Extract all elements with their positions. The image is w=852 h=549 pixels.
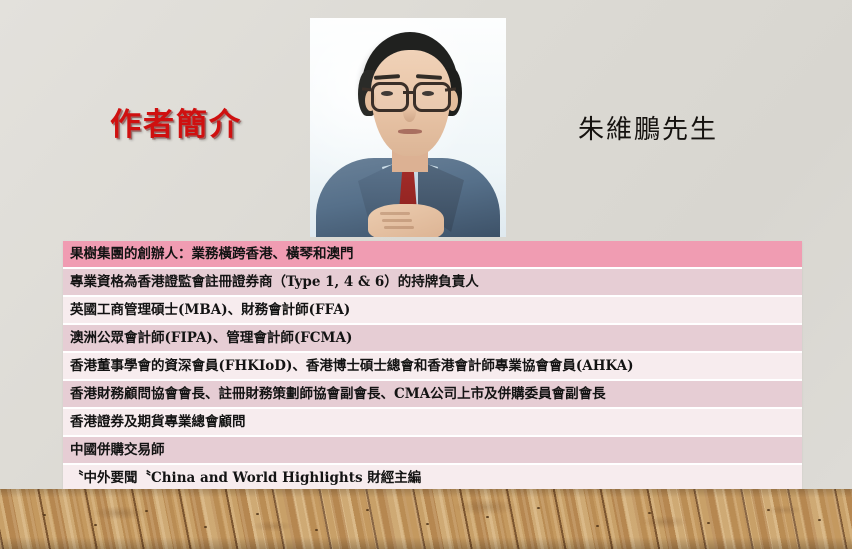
credentials-row: 專業資格為香港證監會註冊證券商（Type 1, 4 & 6）的持牌負責人 [63,269,802,297]
credentials-row: 〝中外要聞〝China and World Highlights 財經主編 [63,465,802,491]
author-name: 朱維鵬先生 [578,109,718,146]
credentials-row: 中國併購交易師 [63,437,802,465]
credentials-row: 澳洲公眾會計師(FIPA)、管理會計師(FCMA) [63,325,802,353]
credentials-cell: 英國工商管理碩士(MBA)、財務會計師(FFA) [63,297,802,325]
mouth [398,129,422,134]
credentials-cell: 專業資格為香港證監會註冊證券商（Type 1, 4 & 6）的持牌負責人 [63,269,802,297]
finger [384,226,414,229]
credentials-table: 果樹集團的創辦人：業務橫跨香港、橫琴和澳門專業資格為香港證監會註冊證券商（Typ… [63,241,802,491]
slide-canvas: 作者簡介 朱維鵬先生 果樹集團的創辦人：業務橫跨香港、橫琴和澳門專業資格為香港證… [0,0,852,549]
credentials-row: 香港證券及期貨專業總會顧問 [63,409,802,437]
credentials-cell: 香港董事學會的資深會員(FHKIoD)、香港博士碩士總會和香港會計師專業協會會員… [63,353,802,381]
credentials-cell: 澳洲公眾會計師(FIPA)、管理會計師(FCMA) [63,325,802,353]
finger [382,219,412,222]
finger [380,212,410,215]
page-title: 作者簡介 [110,99,242,144]
credentials-cell: 〝中外要聞〝China and World Highlights 財經主編 [63,465,802,491]
credentials-table-body: 果樹集團的創辦人：業務橫跨香港、橫琴和澳門專業資格為香港證監會註冊證券商（Typ… [63,241,802,491]
wood-knots [0,489,852,549]
credentials-cell: 香港財務顧問協會會長、註冊財務策劃師協會副會長、CMA公司上市及併購委員會副會長 [63,381,802,409]
nose [403,102,416,122]
credentials-header-row: 果樹集團的創辦人：業務橫跨香港、橫琴和澳門 [63,241,802,269]
credentials-cell: 香港證券及期貨專業總會顧問 [63,409,802,437]
credentials-row: 英國工商管理碩士(MBA)、財務會計師(FFA) [63,297,802,325]
credentials-cell: 中國併購交易師 [63,437,802,465]
wood-plank-floor [0,489,852,549]
author-portrait-photo [310,18,506,237]
clasped-hands [368,204,444,237]
eyeglasses-lens-right [413,82,451,112]
credentials-row: 香港財務顧問協會會長、註冊財務策劃師協會副會長、CMA公司上市及併購委員會副會長 [63,381,802,409]
eyeglasses-bridge [403,91,413,94]
credentials-row: 香港董事學會的資深會員(FHKIoD)、香港博士碩士總會和香港會計師專業協會會員… [63,353,802,381]
credentials-cell: 果樹集團的創辦人：業務橫跨香港、橫琴和澳門 [63,241,802,269]
